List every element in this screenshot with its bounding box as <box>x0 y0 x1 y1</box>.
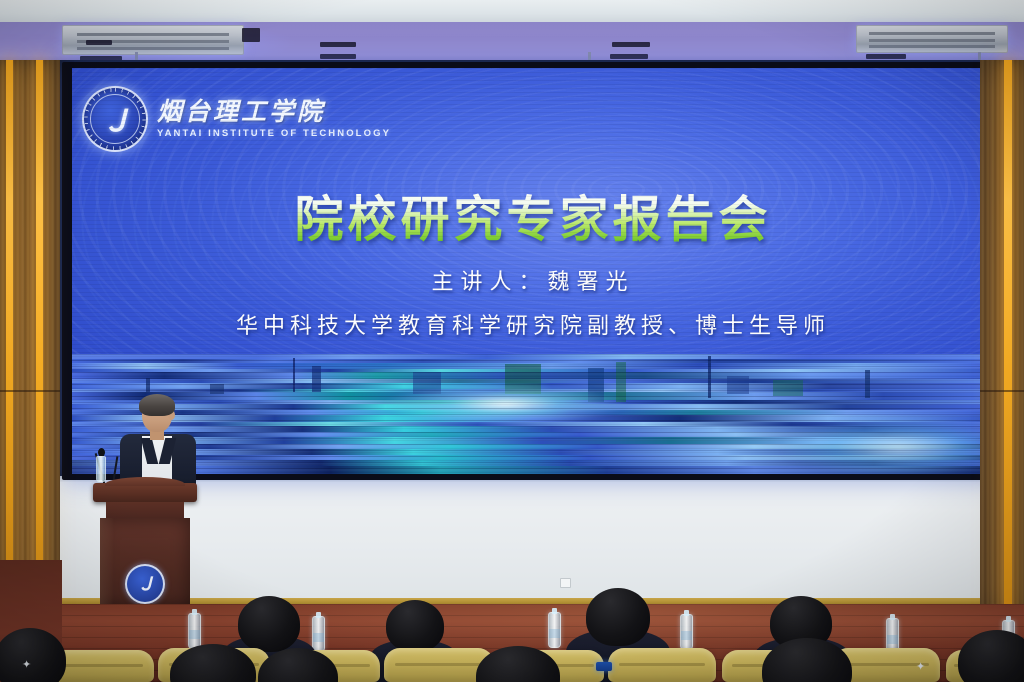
ceiling-slot-g <box>866 54 906 59</box>
podium-body: Ｊ <box>100 518 190 612</box>
ceiling-slot-f <box>610 54 648 59</box>
right-amber-light-strip-1 <box>1004 60 1012 620</box>
podium-neck <box>106 502 184 518</box>
led-screen: Ｊ 烟台理工学院 YANTAI INSTITUTE OF TECHNOLOGY … <box>72 68 994 474</box>
podium-emblem-glyph: Ｊ <box>137 570 153 596</box>
auditorium-photo-scene: Ｊ 烟台理工学院 YANTAI INSTITUTE OF TECHNOLOGY … <box>0 0 1024 682</box>
ceiling-slot-e <box>612 42 650 47</box>
audience-phone-screen <box>596 662 612 671</box>
auditorium-seat-6[interactable] <box>608 648 716 682</box>
wall-outlet-right <box>560 578 571 588</box>
audience-head-1 <box>238 596 300 652</box>
left-wood-wall-panel <box>0 60 60 620</box>
ceiling-slot-c <box>320 42 356 47</box>
right-wood-wall-panel <box>980 60 1024 620</box>
lower-wall-panel <box>60 476 980 604</box>
ceiling-slot-d <box>320 54 356 59</box>
podium-university-emblem-icon: Ｊ <box>125 564 165 604</box>
ac-vent-right-icon <box>856 25 1008 53</box>
presenter-hair <box>139 394 175 416</box>
ceiling-plane <box>0 0 1024 22</box>
audience-head-3 <box>586 588 650 646</box>
left-amber-light-strip-1 <box>6 60 13 620</box>
water-bottle-4 <box>680 614 693 650</box>
screen-scanlines <box>72 68 994 474</box>
audience-head-2 <box>386 600 444 652</box>
hair-clip-icon-2: ✦ <box>22 658 31 671</box>
ceiling-fixture-left <box>242 28 260 42</box>
water-bottle-1 <box>188 613 201 649</box>
podium-lectern-top <box>93 483 197 502</box>
podium-water-bottle <box>96 456 106 482</box>
ceiling-slot-a <box>86 40 112 45</box>
water-bottle-2 <box>312 616 325 652</box>
left-amber-light-strip-2 <box>36 60 43 620</box>
hair-clip-icon: ✦ <box>916 660 925 673</box>
water-bottle-3 <box>548 612 561 648</box>
